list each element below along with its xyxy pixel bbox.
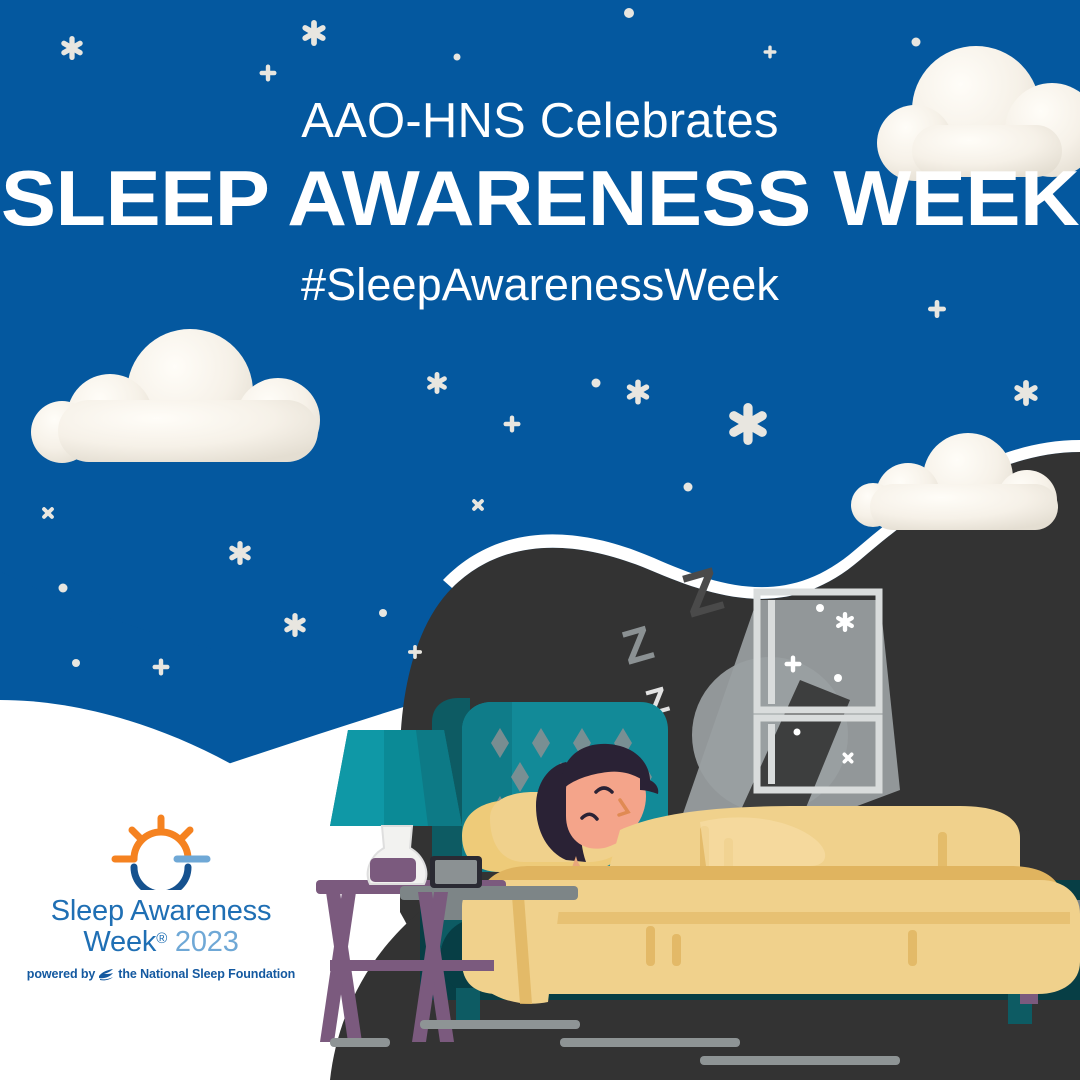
- logo-title-line1: Sleep Awareness: [36, 896, 286, 927]
- logo-week-word: Week: [83, 926, 156, 958]
- star-dot: [834, 674, 842, 682]
- star-dot: [59, 584, 68, 593]
- logo-powered-by: powered by the National Sleep Foundation: [36, 967, 286, 981]
- star-dot: [592, 379, 601, 388]
- star-dot: [72, 659, 80, 667]
- star-dot: [454, 54, 461, 61]
- logo-title: Sleep Awareness Week® 2023: [36, 896, 286, 958]
- logo-year: 2023: [175, 926, 239, 958]
- object-on-table: [370, 858, 416, 882]
- star-dot: [624, 8, 634, 18]
- star-dot: [912, 38, 921, 47]
- bed-leg-left: [456, 988, 480, 1024]
- powered-by-prefix: powered by: [27, 967, 95, 981]
- sun-moon-arc-logo: [101, 812, 221, 890]
- poster-canvas: Z Z Z: [0, 0, 1080, 1080]
- powered-by-org: the National Sleep Foundation: [118, 967, 295, 981]
- logo-title-line2: Week® 2023: [36, 927, 286, 958]
- star-dot: [816, 604, 824, 612]
- star-dot: [794, 729, 801, 736]
- star-dot: [684, 483, 693, 492]
- registered-mark: ®: [156, 930, 167, 947]
- logo-lockup[interactable]: Sleep Awareness Week® 2023 powered by th…: [36, 812, 286, 981]
- nsf-swoosh-icon: [98, 968, 115, 981]
- logo-lower-arc: [134, 867, 188, 890]
- star-dot: [379, 609, 387, 617]
